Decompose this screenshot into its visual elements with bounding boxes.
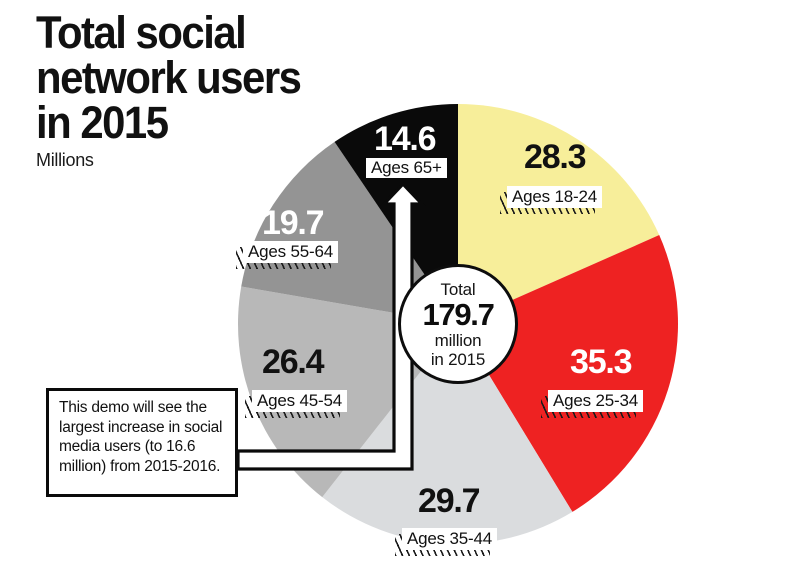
callout-text: This demo will see the largest increase … <box>59 398 227 476</box>
callout-connector-arrow <box>0 0 787 588</box>
connector-arrow-shape <box>238 184 422 469</box>
center-total-unit: million <box>435 331 482 350</box>
callout-box[interactable]: This demo will see the largest increase … <box>46 388 238 497</box>
center-total-value: 179.7 <box>422 299 493 331</box>
donut-center-total: Total 179.7 million in 2015 <box>398 264 518 384</box>
infographic-canvas: Total social network users in 2015 Milli… <box>0 0 787 588</box>
center-total-label: Total <box>441 280 476 299</box>
center-total-year: in 2015 <box>431 350 485 369</box>
